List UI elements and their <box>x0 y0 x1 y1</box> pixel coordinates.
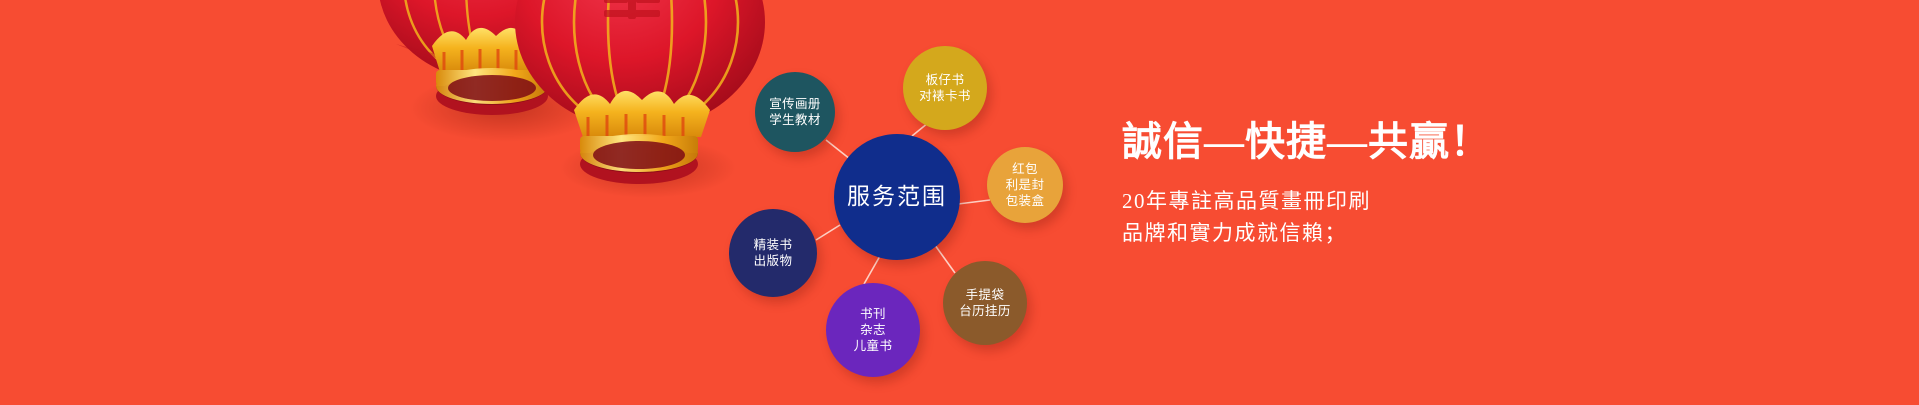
diagram-node-hardcover[interactable]: 精装书 出版物 <box>729 209 817 297</box>
node-line: 出版物 <box>754 253 793 269</box>
node-line: 宣传画册 <box>769 96 821 112</box>
node-line: 利是封 <box>1006 177 1045 193</box>
node-line: 对裱卡书 <box>919 88 971 104</box>
diagram-node-center[interactable]: 服务范围 <box>834 134 960 260</box>
subline-2: 品牌和實力成就信賴； <box>1122 218 1491 250</box>
node-line: 手提袋 <box>966 287 1005 303</box>
connector-hardcover <box>816 225 840 240</box>
connector-periodicals <box>864 256 880 284</box>
node-line: 儿童书 <box>854 338 893 354</box>
node-line: 板仔书 <box>926 72 965 88</box>
node-line: 包装盒 <box>1006 193 1045 209</box>
diagram-node-board-books[interactable]: 板仔书 对裱卡书 <box>903 46 987 130</box>
node-line: 红包 <box>1012 161 1038 177</box>
node-line: 杂志 <box>860 322 886 338</box>
node-line: 书刊 <box>860 306 886 322</box>
node-line: 台历挂历 <box>959 303 1011 319</box>
marketing-copy: 誠信—快捷—共贏！ 20年專註高品質畫冊印刷 品牌和實力成就信賴； <box>1122 122 1491 249</box>
diagram-node-center-label: 服务范围 <box>847 182 947 211</box>
node-line: 精装书 <box>754 237 793 253</box>
diagram-node-promo-books[interactable]: 宣传画册 学生教材 <box>755 72 835 152</box>
diagram-node-red-packets[interactable]: 红包 利是封 包装盒 <box>987 147 1063 223</box>
subline-1: 20年專註高品質畫冊印刷 <box>1122 186 1491 218</box>
node-line: 学生教材 <box>769 112 821 128</box>
promo-banner: 服务范围 宣传画册 学生教材 板仔书 对裱卡书 红包 利是封 包装盒 手提袋 台… <box>0 0 1919 405</box>
service-scope-diagram: 服务范围 宣传画册 学生教材 板仔书 对裱卡书 红包 利是封 包装盒 手提袋 台… <box>0 0 1919 405</box>
diagram-node-periodicals[interactable]: 书刊 杂志 儿童书 <box>826 283 920 377</box>
headline: 誠信—快捷—共贏！ <box>1122 122 1491 162</box>
diagram-node-handbags-calendars[interactable]: 手提袋 台历挂历 <box>943 261 1027 345</box>
connector-red-packets <box>958 200 990 204</box>
